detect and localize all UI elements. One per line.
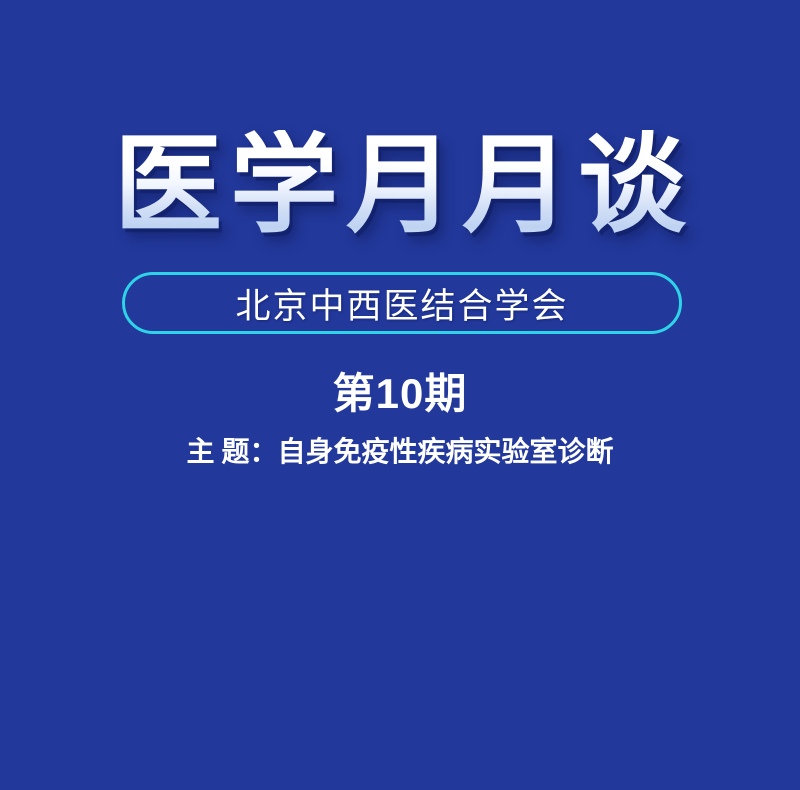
poster-canvas: 医学月月谈 医学月月谈 北京中西医结合学会 第10期 主 题：自身免疫性疾病实验… <box>0 0 800 790</box>
main-title-block: 医学月月谈 医学月月谈 <box>0 130 800 243</box>
main-title: 医学月月谈 <box>106 130 694 243</box>
topic-line: 主 题：自身免疫性疾病实验室诊断 <box>0 436 800 470</box>
organization-pill: 北京中西医结合学会 <box>122 272 682 334</box>
empty-lower-area <box>0 490 800 790</box>
episode-label: 第10期 <box>0 370 800 418</box>
organization-name: 北京中西医结合学会 <box>235 278 568 329</box>
